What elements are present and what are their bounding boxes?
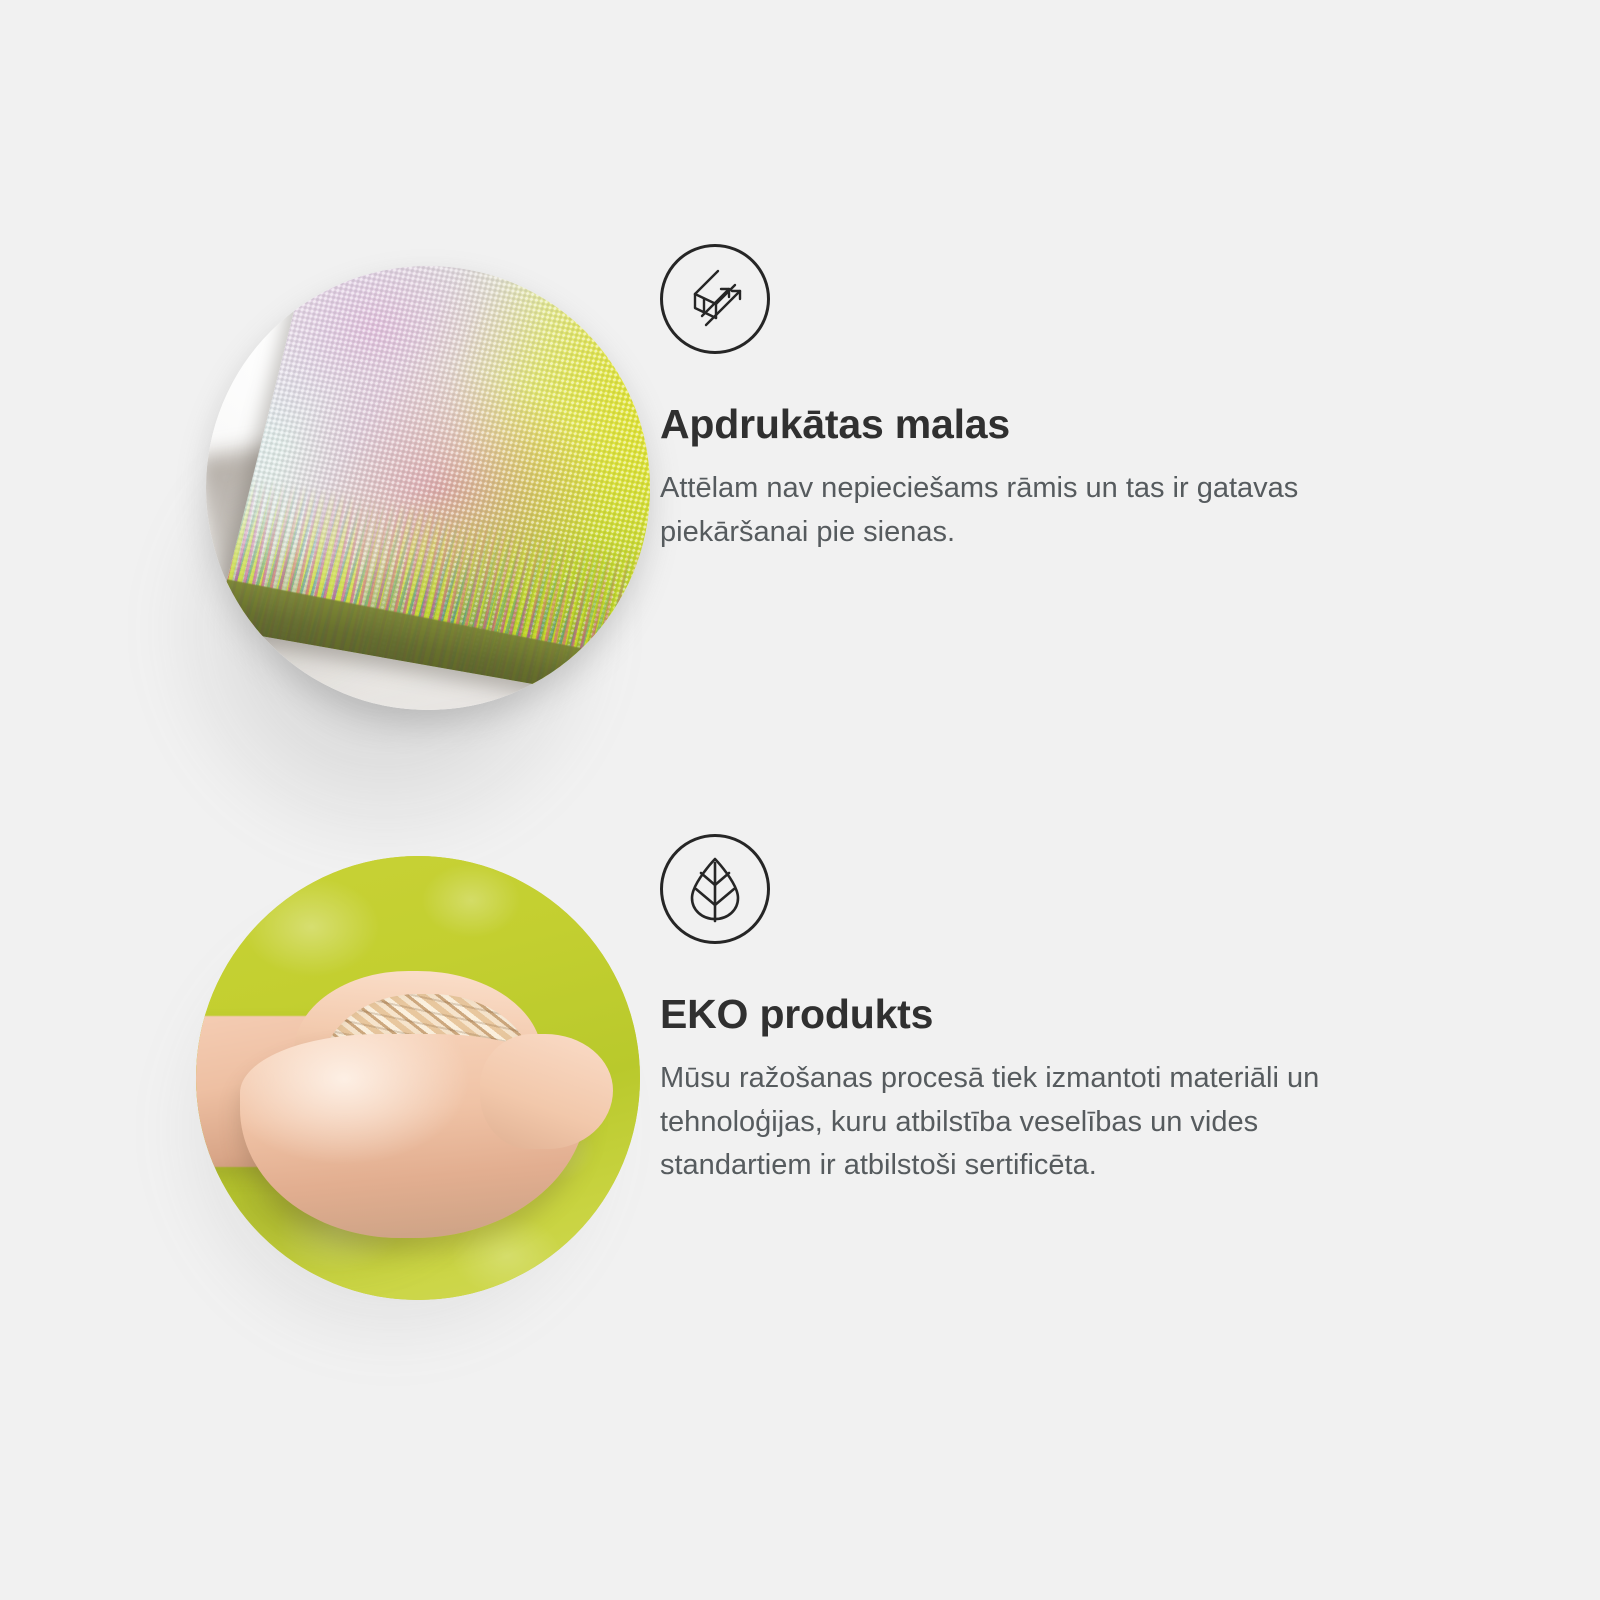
right-fingers: [480, 1034, 613, 1149]
feature-printed-edges: Apdrukātas malas Attēlam nav nepieciešam…: [0, 244, 1400, 764]
eko-product-text: EKO produkts Mūsu ražošanas procesā tiek…: [660, 834, 1400, 1188]
canvas-print-corner-image: [206, 266, 650, 710]
wood-chips-image: [196, 856, 640, 1300]
wrapped-canvas-edge-icon: [660, 244, 770, 354]
eko-product-media: [0, 834, 660, 1334]
product-features-panel: Apdrukātas malas Attēlam nav nepieciešam…: [0, 0, 1600, 1600]
printed-edges-text: Apdrukātas malas Attēlam nav nepieciešam…: [660, 244, 1400, 554]
hands-holding-wood-chips-photo: [0, 834, 660, 1334]
feature-description: Attēlam nav nepieciešams rāmis un tas ir…: [660, 467, 1390, 554]
feature-title: Apdrukātas malas: [660, 402, 1400, 447]
printed-edges-media: [0, 244, 660, 764]
feature-description: Mūsu ražošanas procesā tiek izmantoti ma…: [660, 1057, 1390, 1188]
feature-eko-product: EKO produkts Mūsu ražošanas procesā tiek…: [0, 834, 1400, 1334]
feature-title: EKO produkts: [660, 992, 1400, 1037]
canvas-print-corner-photo: [0, 244, 660, 764]
leaf-icon: [660, 834, 770, 944]
